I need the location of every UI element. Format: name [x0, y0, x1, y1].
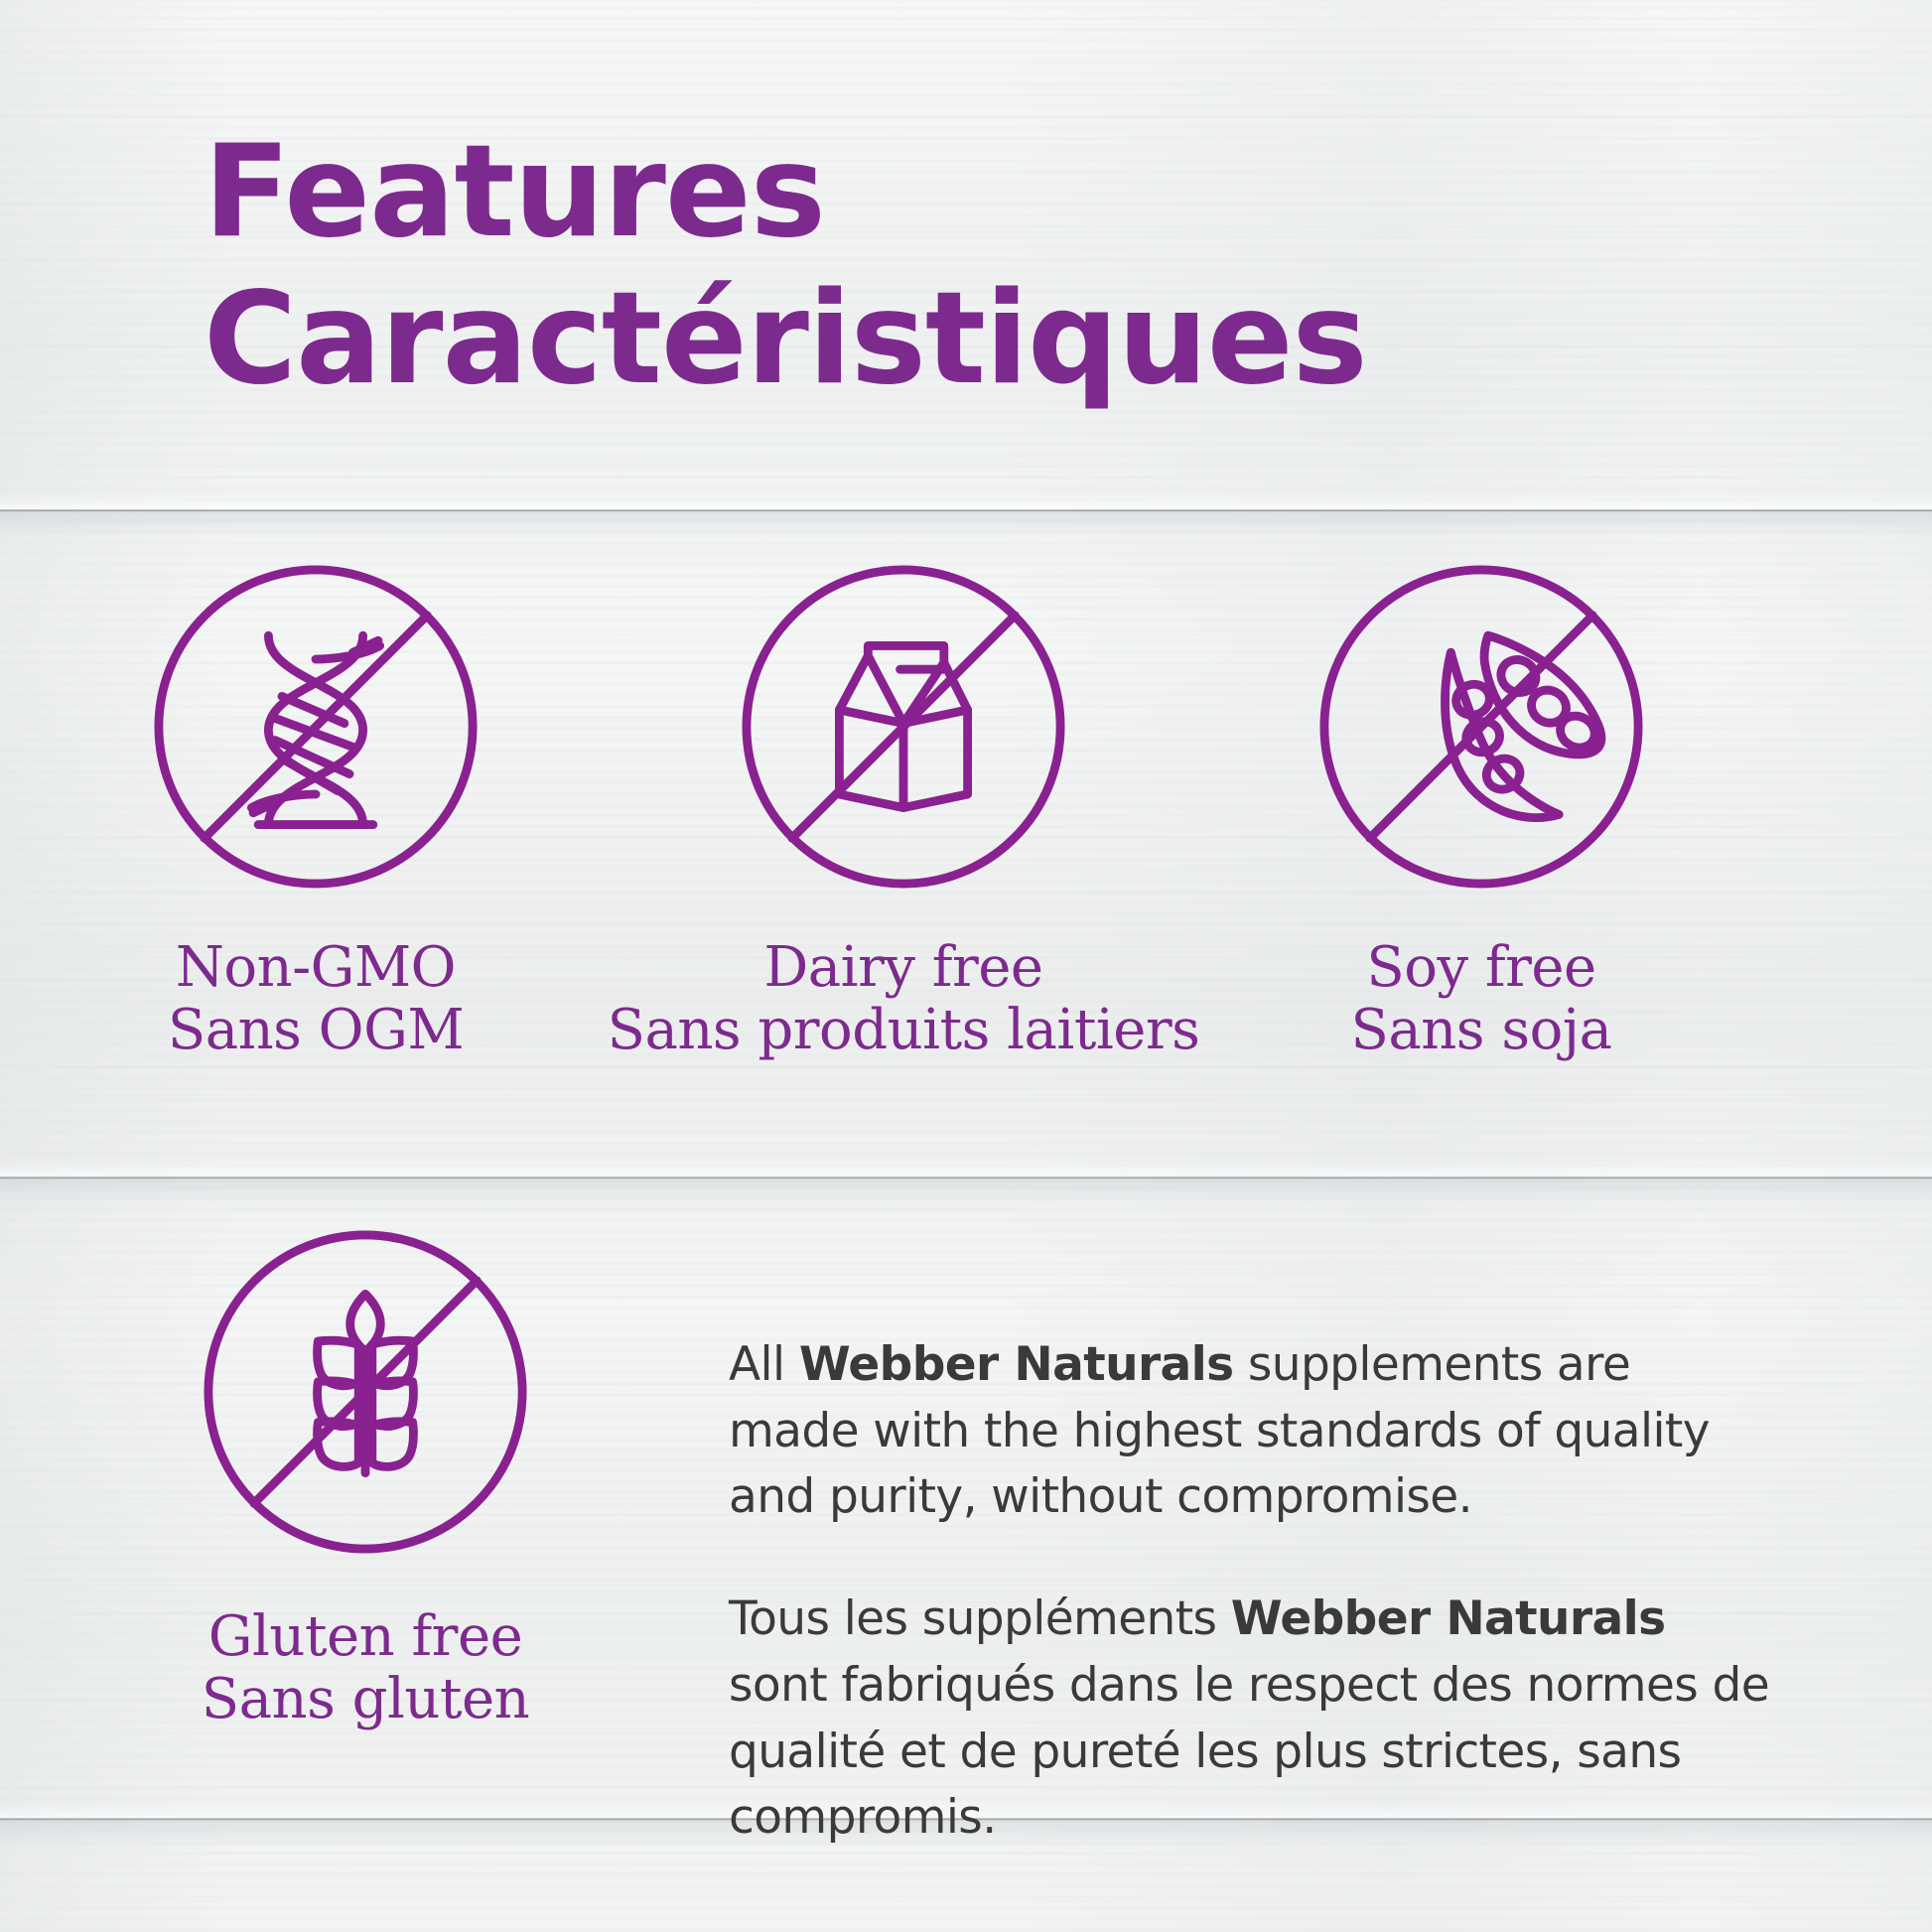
description-fr-after: sont fabriqués dans le respect des norme…: [729, 1658, 1769, 1845]
feature-label-fr: Sans gluten: [202, 1669, 529, 1731]
feature-item-soy-free: Soy free Sans soja: [1183, 558, 1779, 1061]
page-title-line-fr: Caractéristiques: [204, 266, 1693, 413]
feature-item-gluten-free: Gluten free Sans gluten: [18, 1223, 713, 1730]
feature-caption-soy-free: Soy free Sans soja: [1350, 937, 1611, 1061]
no-soy-pea-pod-icon: [1312, 558, 1650, 896]
no-gluten-wheat-icon: [197, 1223, 534, 1561]
feature-label-fr: Sans produits laitiers: [608, 1000, 1200, 1062]
feature-label-fr: Sans soja: [1350, 1000, 1611, 1062]
brand-name-en: Webber Naturals: [799, 1337, 1234, 1392]
wood-plank-background: Features Caractéristiques: [0, 0, 1932, 1932]
feature-label-en: Non-GMO: [176, 935, 456, 1000]
feature-label-en: Gluten free: [208, 1604, 523, 1669]
no-dairy-milk-carton-icon: [735, 558, 1072, 896]
description-paragraph-en: All Webber Naturals supplements are made…: [729, 1332, 1771, 1531]
feature-label-en: Dairy free: [763, 935, 1042, 1000]
page-title-line-en: Features: [204, 119, 1693, 266]
description-en-before: All: [729, 1337, 799, 1392]
features-panel: Features Caractéristiques: [0, 0, 1932, 1932]
feature-item-non-gmo: Non-GMO Sans OGM: [18, 558, 614, 1061]
feature-label-fr: Sans OGM: [168, 1000, 464, 1062]
feature-caption-dairy-free: Dairy free Sans produits laitiers: [608, 937, 1200, 1061]
feature-item-dairy-free: Dairy free Sans produits laitiers: [606, 558, 1201, 1061]
feature-label-en: Soy free: [1366, 935, 1595, 1000]
description-fr-before: Tous les suppléments: [729, 1591, 1231, 1646]
feature-icon-row-top: Non-GMO Sans OGM: [0, 558, 1932, 1061]
feature-icon-row-bottom: Gluten free Sans gluten All Webber Natur…: [0, 1223, 1932, 1852]
brand-name-fr: Webber Naturals: [1231, 1591, 1666, 1646]
no-gmo-dna-icon: [147, 558, 484, 896]
description-block: All Webber Naturals supplements are made…: [729, 1223, 1771, 1852]
page-title: Features Caractéristiques: [204, 119, 1693, 414]
description-paragraph-fr: Tous les suppléments Webber Naturals son…: [729, 1587, 1771, 1852]
feature-caption-gluten-free: Gluten free Sans gluten: [202, 1606, 529, 1730]
feature-caption-non-gmo: Non-GMO Sans OGM: [168, 937, 464, 1061]
